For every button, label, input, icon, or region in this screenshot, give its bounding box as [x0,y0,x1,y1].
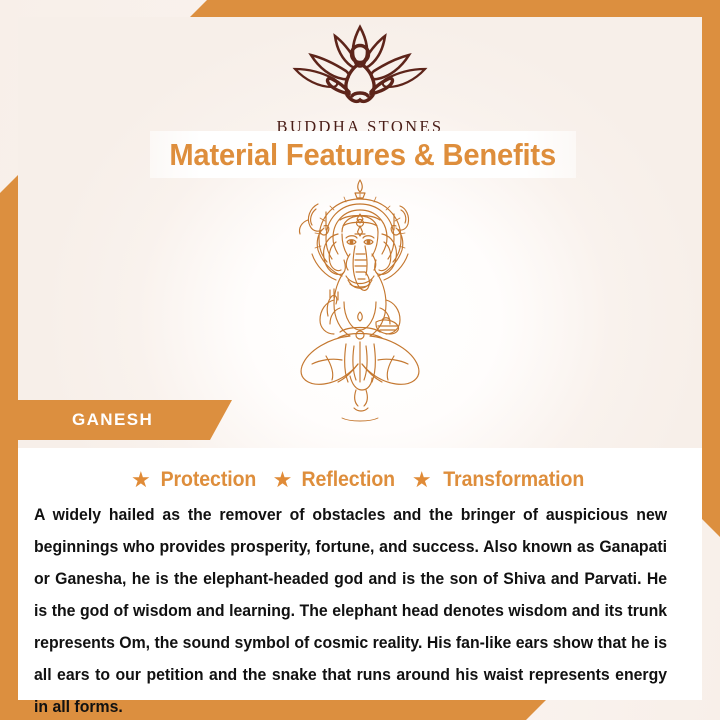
brand-logo: BUDDHA STONES [0,22,720,137]
frame-bar-left [0,175,18,720]
benefit-label: Reflection [302,468,395,492]
benefit-label: Transformation [443,468,584,492]
benefit-item: ★ Protection [131,468,260,492]
content-card: ★ Protection ★ Reflection ★ Transformati… [18,448,702,700]
frame-bar-top [190,0,720,17]
star-icon: ★ [412,469,432,491]
title-band: Material Features & Benefits [150,131,576,178]
ganesh-line-art-illustration [272,176,448,434]
description-text: A widely hailed as the remover of obstac… [34,500,667,720]
star-icon: ★ [273,469,293,491]
page-title: Material Features & Benefits [170,137,557,173]
lotus-meditation-icon [0,22,720,113]
ganesh-ribbon: GANESH [0,400,232,440]
poster-canvas: BUDDHA STONES Material Features & Benefi… [0,0,720,720]
benefits-row: ★ Protection ★ Reflection ★ Transformati… [18,468,702,492]
star-icon: ★ [131,469,151,491]
benefit-label: Protection [160,468,256,492]
ribbon-label: GANESH [72,410,153,430]
benefit-item: ★ Reflection [273,468,399,492]
benefit-item: ★ Transformation [412,468,589,492]
